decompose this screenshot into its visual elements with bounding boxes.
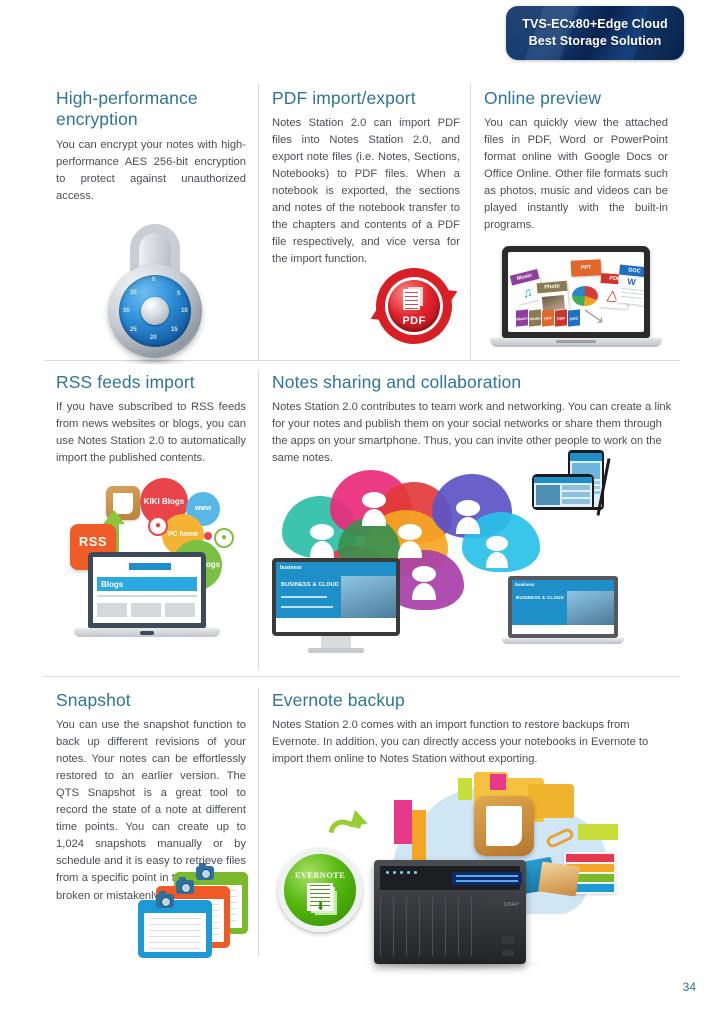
nas-port: [502, 936, 514, 944]
rss-laptop-icon: KIKI Blogs www PC home David Blogs ● ● R…: [70, 478, 230, 648]
rss-bubble-user-icon-2: ●: [148, 516, 168, 536]
file-card-ppt-label: PPT: [571, 259, 602, 277]
nas-power-button[interactable]: [502, 950, 514, 956]
laptop-preview-icon: Music ♫ Photo PPT PDF △: [490, 246, 662, 350]
section-evernote-backup: Evernote backup Notes Station 2.0 comes …: [272, 690, 672, 768]
nas-lcd-display: [452, 872, 522, 885]
file-card-music-label: Music: [510, 269, 540, 285]
mini-card-pdf: PDF: [555, 309, 567, 326]
snapshot-camera-icon: [156, 894, 174, 908]
evernote-document-glyph: ⬇: [307, 883, 333, 911]
nas-bay: [393, 896, 404, 956]
monitor-frame: business BUSINESS & CLOUD: [272, 558, 400, 636]
snapshot-camera-icon: [196, 866, 214, 880]
rss-badge-label: RSS: [79, 534, 107, 549]
evernote-badge: EVERNOTE ⬇: [278, 848, 362, 932]
nas-bay: [406, 896, 417, 956]
nas-bay: [445, 896, 456, 956]
person-silhouette: [362, 492, 386, 526]
product-banner: TVS-ECx80+Edge Cloud Best Storage Soluti…: [506, 6, 684, 60]
section-body: Notes Station 2.0 comes with an import f…: [272, 717, 672, 768]
nas-brand-label: QNAP: [504, 902, 519, 908]
mini-card-ppt: PPT: [542, 309, 554, 326]
file-card-ppt: PPT: [571, 259, 602, 277]
section-title: Evernote backup: [272, 690, 672, 711]
laptop-screen: Music ♫ Photo PPT PDF △: [508, 252, 644, 332]
pdf-ball: PDF: [388, 280, 440, 332]
monitor-headline: BUSINESS & CLOUD: [281, 582, 339, 588]
section-online-preview: Online preview You can quickly view the …: [484, 88, 668, 234]
notes-app-icon: [474, 796, 534, 856]
nas-bay: [380, 896, 391, 956]
laptop-headline: BUSINESS & CLOUD: [516, 595, 564, 600]
banner-line-1: TVS-ECx80+Edge Cloud: [522, 16, 667, 33]
padlock-icon: 0 5 10 15 20 25 30 35: [100, 222, 210, 352]
rss-laptop-screen: Blogs: [93, 557, 201, 623]
laptop-base: [490, 338, 662, 347]
rss-bubble-user-icon: ●: [214, 528, 234, 548]
divider-col-2-top: [470, 84, 471, 360]
nas-bay: [458, 896, 469, 956]
section-title: Snapshot: [56, 690, 246, 711]
padlock-shadow: [118, 358, 192, 365]
file-card-mini-strip: Music Photo PPT PDF DOC: [516, 310, 580, 326]
person-silhouette: [412, 566, 436, 600]
person-silhouette: [398, 524, 422, 558]
file-card-doc-label: DOC: [619, 265, 644, 278]
section-title: High-performance encryption: [56, 88, 246, 131]
person-silhouette: [456, 500, 480, 534]
divider-col-1-mid: [258, 370, 259, 670]
section-rss-feeds-import: RSS feeds import If you have subscribed …: [56, 372, 246, 467]
snapshot-cards-icon: [138, 872, 248, 958]
photo-thumbnail-warm: [538, 862, 580, 897]
section-title: Online preview: [484, 88, 668, 109]
section-body: If you have subscribed to RSS feeds from…: [56, 399, 246, 467]
snapshot-card-blue: [138, 900, 212, 958]
divider-col-1-top: [258, 84, 259, 360]
banner-line-2: Best Storage Solution: [529, 33, 662, 50]
cloud-people-devices-icon: business BUSINESS & CLOUD business: [272, 450, 676, 660]
person-silhouette: [486, 536, 508, 568]
padlock-dial: 0 5 10 15 20 25 30 35: [119, 275, 191, 347]
padlock-body: 0 5 10 15 20 25 30 35: [108, 264, 202, 358]
section-body: You can quickly view the attached files …: [484, 115, 668, 234]
laptop-screen: business BUSINESS & CLOUD: [512, 580, 614, 634]
tag-green: [458, 778, 472, 800]
divider-col-1-bottom: [258, 688, 259, 956]
nas-bay: [419, 896, 430, 956]
file-card-chart-pie: [570, 278, 600, 308]
section-body: Notes Station 2.0 can import PDF files i…: [272, 115, 460, 268]
rss-dot-red: [204, 532, 212, 540]
rss-screen-title: Blogs: [97, 577, 197, 591]
divider-row-2: [44, 676, 680, 677]
tag-pink: [490, 774, 506, 790]
mini-card-music: Music: [516, 309, 528, 326]
snapshot-camera-icon: [176, 880, 194, 894]
desktop-monitor: business BUSINESS & CLOUD: [272, 558, 400, 636]
section-high-performance-encryption: High-performance encryption You can encr…: [56, 88, 246, 205]
nas-shadow: [366, 958, 546, 970]
padlock-knob: [141, 297, 169, 325]
pdf-sync-icon: PDF: [372, 264, 456, 348]
laptop-hero: BUSINESS & CLOUD: [512, 591, 614, 625]
bar-pink: [394, 800, 412, 844]
section-pdf-import-export: PDF import/export Notes Station 2.0 can …: [272, 88, 460, 268]
pdf-label: PDF: [402, 315, 425, 327]
rss-laptop-frame: Blogs: [88, 552, 206, 628]
folder-icon-secondary: [528, 784, 574, 818]
section-title: Notes sharing and collaboration: [272, 372, 672, 393]
section-body: You can encrypt your notes with high-per…: [56, 137, 246, 205]
laptop-screen-frame: Music ♫ Photo PPT PDF △: [502, 246, 650, 338]
rss-laptop-base: [74, 628, 220, 637]
laptop-device: business BUSINESS & CLOUD: [508, 576, 618, 638]
pdf-document-glyph: [403, 289, 420, 310]
monitor-hero: BUSINESS & CLOUD: [276, 576, 396, 620]
page-canvas: TVS-ECx80+Edge Cloud Best Storage Soluti…: [0, 0, 724, 1024]
laptop-frame: business BUSINESS & CLOUD: [508, 576, 618, 638]
monitor-screen: business BUSINESS & CLOUD: [276, 562, 396, 632]
file-card-photo-label: Photo: [537, 281, 568, 294]
nas-bay: [432, 896, 443, 956]
mini-card-photo: Photo: [529, 309, 541, 326]
tag-lime: [578, 824, 618, 840]
nas-drive-bays: [380, 896, 482, 956]
smartphone-landscape-screen: [534, 477, 592, 507]
file-card-doc: DOC W: [616, 265, 644, 306]
smartphone-landscape: [532, 474, 594, 510]
nas-device: QNAP: [374, 860, 526, 964]
person-silhouette: [310, 524, 334, 558]
nas-top-panel: [380, 866, 520, 890]
nas-bay: [471, 896, 482, 956]
evernote-badge-label: EVERNOTE: [295, 870, 345, 880]
evernote-nas-cloud-icon: EVERNOTE ⬇: [278, 768, 678, 968]
page-number: 34: [683, 980, 696, 994]
section-title: RSS feeds import: [56, 372, 246, 393]
section-title: PDF import/export: [272, 88, 460, 109]
banner-text: TVS-ECx80+Edge Cloud Best Storage Soluti…: [506, 6, 684, 60]
